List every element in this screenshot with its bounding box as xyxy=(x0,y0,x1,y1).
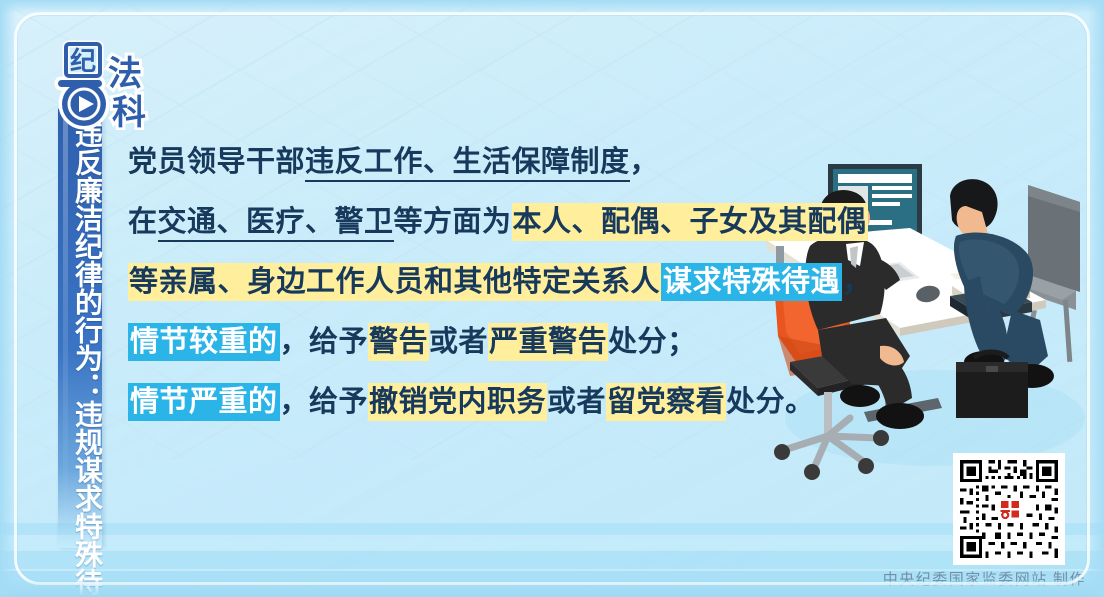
floor-band xyxy=(0,523,1104,535)
text-line-4: 情节较重的，给予警告或者严重警告处分； xyxy=(128,312,828,372)
text-line-5: 情节严重的，给予撤销党内职务或者留党察看处分。 xyxy=(128,372,828,432)
text-segment: 严重警告 xyxy=(488,323,608,361)
logo-char-fa: 法 xyxy=(108,55,142,93)
text-line-1: 党员领导干部违反工作、生活保障制度， xyxy=(128,132,828,192)
qr-code[interactable] xyxy=(953,453,1065,565)
text-segment: 或者 xyxy=(429,326,488,358)
floor-band xyxy=(0,551,1104,569)
text-segment: 党员领导干部 xyxy=(128,146,305,178)
text-segment: 等方面为 xyxy=(394,206,512,238)
poster-canvas: 纪 法 法 科 科 违反廉洁纪律的行为：违规谋求特殊待遇 党员领导干部违反工作、… xyxy=(0,0,1104,597)
text-segment: 情节较重的 xyxy=(128,323,280,361)
text-segment: 警告 xyxy=(368,323,429,361)
text-segment: 处分； xyxy=(608,326,697,358)
brand-logo: 纪 法 法 科 科 xyxy=(52,40,162,130)
text-line-3: 等亲属、身边工作人员和其他特定关系人谋求特殊待遇， xyxy=(128,252,828,312)
text-segment: 违反工作、生活保障制度 xyxy=(305,146,630,182)
text-segment: ，给予 xyxy=(280,386,369,418)
logo-char-ke: 科 xyxy=(112,94,146,130)
text-segment: 在 xyxy=(128,206,158,238)
logo-char-ji: 纪 xyxy=(70,46,96,76)
text-segment: 处分。 xyxy=(726,386,815,418)
text-segment: ，给予 xyxy=(280,326,369,358)
floor-band xyxy=(0,541,1104,549)
text-segment: 交通、医疗、警卫 xyxy=(158,206,394,242)
text-segment: ， xyxy=(630,146,660,178)
text-segment: ， xyxy=(842,266,872,298)
text-segment: 撤销党内职务 xyxy=(368,383,547,421)
text-segment: 情节严重的 xyxy=(128,383,280,421)
text-segment: 等亲属、身边工作人员和其他特定关系人 xyxy=(128,263,661,301)
text-line-2: 在交通、医疗、警卫等方面为本人、配偶、子女及其配偶 xyxy=(128,192,828,252)
text-segment: 或者 xyxy=(547,386,606,418)
text-segment: 谋求特殊待遇 xyxy=(661,263,842,301)
vertical-category-banner: 违反廉洁纪律的行为：违规谋求特殊待遇 xyxy=(58,108,102,548)
text-segment: 本人、配偶、子女及其配偶 xyxy=(512,203,868,241)
vertical-banner-text: 违反廉洁纪律的行为：违规谋求特殊待遇 xyxy=(58,108,102,548)
main-text-block: 党员领导干部违反工作、生活保障制度， 在交通、医疗、警卫等方面为本人、配偶、子女… xyxy=(128,132,828,432)
footer-credit: 中央纪委国家监委网站 制作 xyxy=(883,568,1086,589)
text-segment: 留党察看 xyxy=(606,383,726,421)
